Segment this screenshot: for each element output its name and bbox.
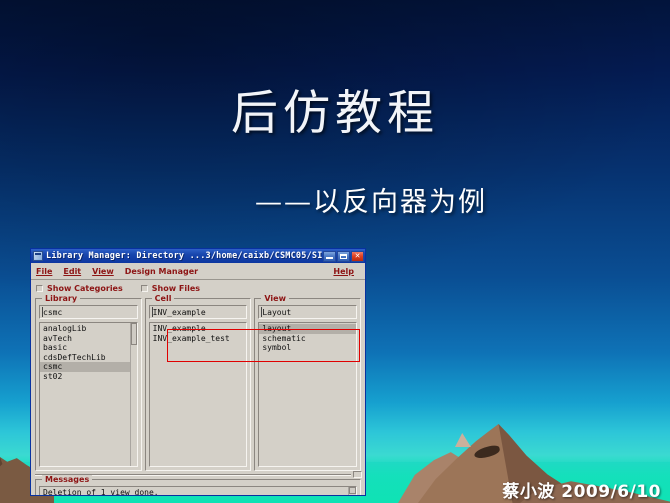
column-view-legend: View (261, 294, 289, 303)
slide-canvas: 后仿教程 ——以反向器为例 Library Manager: Directory… (0, 0, 670, 503)
maximize-button[interactable] (337, 251, 350, 262)
list-item[interactable]: csmc (40, 362, 137, 372)
list-item[interactable]: analogLib (40, 324, 137, 334)
list-item[interactable]: INV_example_test (150, 334, 247, 344)
display-options-row: Show Categories Show Files (31, 280, 365, 296)
checkbox-show-files[interactable]: Show Files (141, 284, 200, 293)
scroll-up-arrow-icon[interactable] (349, 487, 356, 494)
menu-item-design-manager[interactable]: Design Manager (125, 267, 198, 276)
list-item[interactable]: INV_example (150, 324, 247, 334)
view-name-input[interactable]: Layout (258, 305, 357, 319)
library-name-input[interactable]: csmc (39, 305, 138, 319)
checkbox-show-files-box[interactable] (141, 285, 148, 292)
pane-splitter-grip[interactable] (353, 471, 362, 478)
list-item[interactable]: symbol (259, 343, 356, 353)
checkbox-show-categories-label: Show Categories (47, 284, 123, 293)
messages-line: Deletion of 1 view done. (43, 488, 348, 496)
library-listbox[interactable]: analogLib avTech basic cdsDefTechLib csm… (39, 322, 138, 467)
list-item[interactable]: layout (259, 324, 356, 334)
list-item[interactable]: cdsDefTechLib (40, 353, 137, 363)
menu-bar: File Edit View Design Manager Help (31, 263, 365, 280)
list-item[interactable]: schematic (259, 334, 356, 344)
cell-listbox[interactable]: INV_example INV_example_test (149, 322, 248, 467)
author-signature: 蔡小波 2009/6/10 (502, 477, 661, 502)
menu-item-edit-label: Edit (63, 267, 81, 276)
view-listbox[interactable]: layout schematic symbol (258, 322, 357, 467)
window-titlebar[interactable]: Library Manager: Directory ...3/home/cai… (31, 249, 365, 263)
library-scrollbar[interactable] (130, 323, 137, 466)
mountain-peak-highlight-icon (455, 433, 471, 447)
column-library-legend: Library (42, 294, 80, 303)
messages-vertical-scrollbar[interactable] (348, 487, 356, 496)
slide-subtitle: ——以反向器为例 (0, 180, 670, 219)
column-view: View Layout layout schematic symbol (254, 298, 361, 471)
menu-item-view-label: View (92, 267, 114, 276)
library-scrollbar-thumb[interactable] (131, 323, 137, 345)
menu-item-file[interactable]: File (36, 267, 52, 276)
messages-panel: Messages Deletion of 1 view done. (35, 479, 361, 496)
list-item[interactable]: basic (40, 343, 137, 353)
messages-text-area[interactable]: Deletion of 1 view done. (40, 487, 348, 496)
window-title: Library Manager: Directory ...3/home/cai… (46, 251, 322, 261)
messages-body: Deletion of 1 view done. (39, 486, 357, 496)
menu-item-help-label: Help (333, 267, 354, 276)
slide-title: 后仿教程 (0, 74, 670, 143)
column-cell: Cell INV_example INV_example INV_example… (145, 298, 252, 471)
column-cell-legend: Cell (152, 294, 175, 303)
cell-name-input[interactable]: INV_example (149, 305, 248, 319)
checkbox-show-categories[interactable]: Show Categories (36, 284, 123, 293)
column-library: Library csmc analogLib avTech basic cdsD… (35, 298, 142, 471)
library-manager-window: Library Manager: Directory ...3/home/cai… (30, 248, 366, 496)
list-item[interactable]: avTech (40, 334, 137, 344)
app-window-icon (33, 251, 43, 261)
list-item[interactable]: st02 (40, 372, 137, 382)
checkbox-show-categories-box[interactable] (36, 285, 43, 292)
minimize-button[interactable] (323, 251, 336, 262)
browser-columns: Library csmc analogLib avTech basic cdsD… (31, 296, 365, 471)
menu-item-design-manager-label: Design Manager (125, 267, 198, 276)
menu-item-edit[interactable]: Edit (63, 267, 81, 276)
messages-legend: Messages (42, 475, 92, 484)
menu-item-help[interactable]: Help (333, 267, 354, 276)
menu-item-file-label: File (36, 267, 52, 276)
menu-item-view[interactable]: View (92, 267, 114, 276)
close-button[interactable]: ✕ (351, 251, 364, 262)
checkbox-show-files-label: Show Files (152, 284, 200, 293)
